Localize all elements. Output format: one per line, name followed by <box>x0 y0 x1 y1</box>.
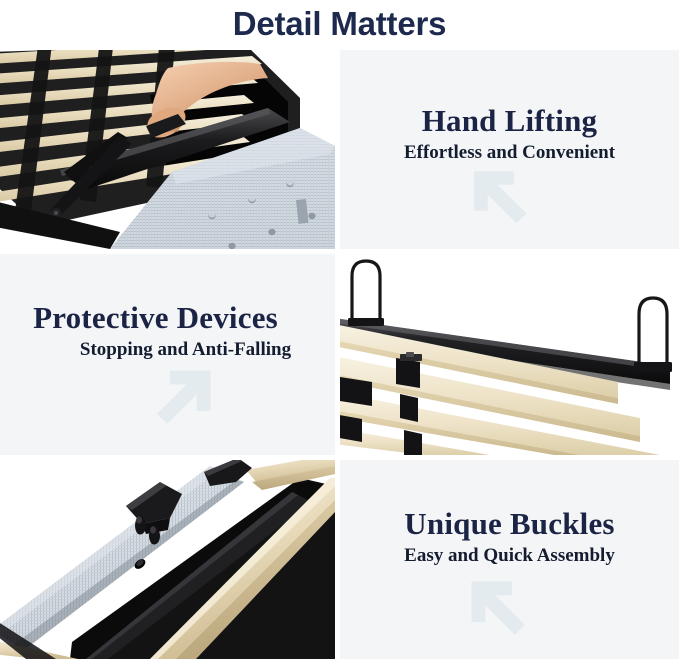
photo-panel-hand-lifting <box>0 50 335 249</box>
photo-panel-unique-buckles <box>0 460 335 659</box>
infographic-page: Detail Matters <box>0 0 679 659</box>
panel-heading: Unique Buckles <box>340 508 679 541</box>
hand-lifting-illustration <box>0 50 335 249</box>
text-panel-protective-devices: Protective Devices Stopping and Anti-Fal… <box>0 254 335 455</box>
arrow-up-left-icon <box>455 565 547 657</box>
page-title: Detail Matters <box>0 0 679 47</box>
buckle-closeup-illustration <box>0 460 335 659</box>
feature-grid: Hand Lifting Effortless and Convenient P… <box>0 50 679 659</box>
arrow-up-right-icon <box>135 354 227 446</box>
panel-heading: Hand Lifting <box>340 105 679 138</box>
wire-loop-stopper-illustration <box>340 254 679 455</box>
photo-hand-lifting-bed-slats <box>0 50 335 249</box>
photo-slats-with-wire-loop-stoppers <box>340 254 679 455</box>
photo-panel-protective-devices <box>340 254 679 455</box>
panel-subheading: Effortless and Convenient <box>340 143 679 164</box>
text-panel-hand-lifting: Hand Lifting Effortless and Convenient <box>340 50 679 249</box>
panel-subheading: Stopping and Anti-Falling <box>18 340 335 361</box>
arrow-up-left-icon <box>458 155 548 245</box>
panel-heading: Protective Devices <box>0 302 323 335</box>
text-panel-unique-buckles: Unique Buckles Easy and Quick Assembly <box>340 460 679 659</box>
photo-buckle-closeup <box>0 460 335 659</box>
panel-subheading: Easy and Quick Assembly <box>340 546 679 567</box>
